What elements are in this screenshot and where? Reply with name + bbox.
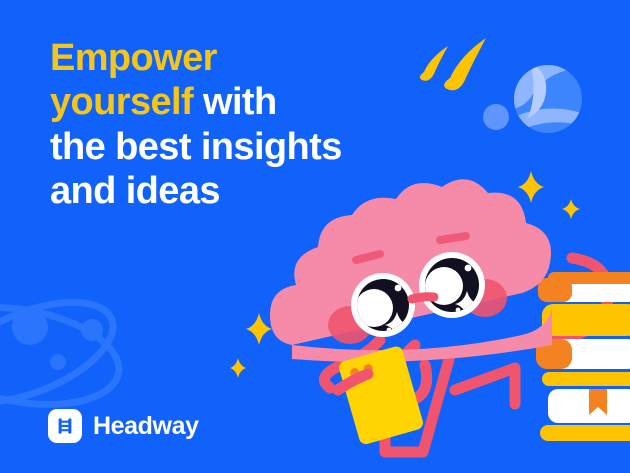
mascot-right-eye — [419, 252, 485, 318]
headline-accent-1: Empower — [50, 37, 217, 79]
book-stack — [536, 272, 630, 441]
brand-name: Headway — [93, 412, 199, 441]
ladder-book-icon — [48, 409, 82, 443]
mascot-mouth — [412, 297, 434, 299]
headline-rest-2: with — [203, 81, 277, 123]
headline-line-1: Empower — [50, 36, 390, 80]
headline-line-2: yourself with — [50, 80, 390, 124]
headline-line-4: and ideas — [50, 169, 390, 213]
page-title: Empower yourself with the best insights … — [50, 36, 390, 214]
brand-lockup[interactable]: Headway — [48, 409, 199, 443]
headline-accent-2: yourself — [50, 81, 193, 123]
headway-promo-banner: Empower yourself with the best insights … — [0, 0, 630, 473]
headline-line-3: the best insights — [50, 125, 390, 169]
